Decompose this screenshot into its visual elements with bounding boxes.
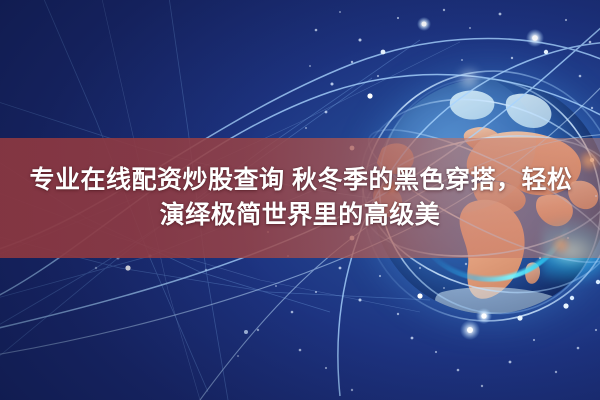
headline-block: 专业在线配资炒股查询 秋冬季的黑色穿搭，轻松 演绎极简世界里的高级美 bbox=[0, 138, 600, 258]
banner-image: 专业在线配资炒股查询 秋冬季的黑色穿搭，轻松 演绎极简世界里的高级美 bbox=[0, 0, 600, 400]
headline-line-1: 专业在线配资炒股查询 秋冬季的黑色穿搭，轻松 bbox=[28, 166, 573, 195]
headline-line-2: 演绎极简世界里的高级美 bbox=[160, 201, 441, 230]
